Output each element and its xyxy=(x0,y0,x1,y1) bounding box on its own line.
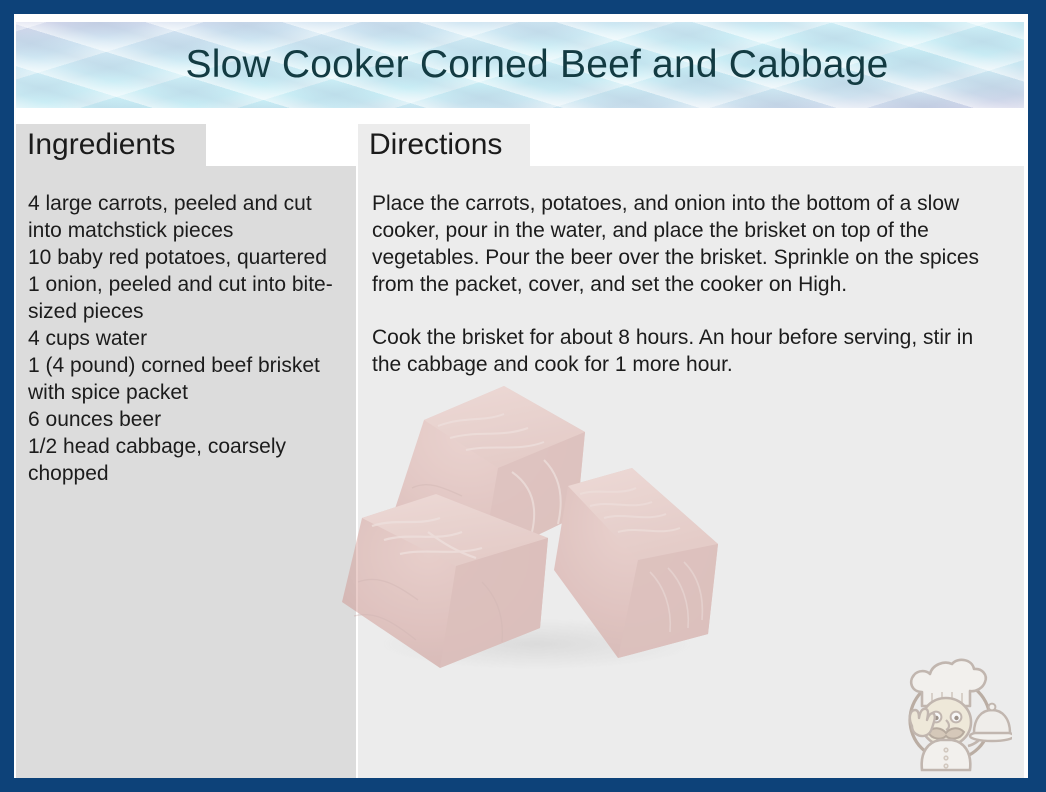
ingredient-item: 4 cups water xyxy=(28,325,340,352)
chef-logo xyxy=(888,648,1012,772)
ingredients-section-tab: Ingredients xyxy=(16,124,206,166)
ingredient-item: 10 baby red potatoes, quartered xyxy=(28,244,340,271)
directions-body: Place the carrots, potatoes, and onion i… xyxy=(372,190,1006,378)
recipe-slide: Slow Cooker Corned Beef and Cabbage Ingr… xyxy=(0,0,1046,792)
ingredients-list: 4 large carrots, peeled and cut into mat… xyxy=(28,190,340,487)
directions-section-tab: Directions xyxy=(358,124,530,166)
raw-beef-cubes-photo xyxy=(332,376,746,676)
page-title: Slow Cooker Corned Beef and Cabbage xyxy=(152,43,889,87)
ingredient-item: 1 (4 pound) corned beef brisket with spi… xyxy=(28,352,340,406)
direction-paragraph: Cook the brisket for about 8 hours. An h… xyxy=(372,324,1006,378)
ingredients-heading: Ingredients xyxy=(27,128,175,162)
ingredient-item: 4 large carrots, peeled and cut into mat… xyxy=(28,190,340,244)
slide-canvas: Slow Cooker Corned Beef and Cabbage Ingr… xyxy=(14,14,1028,778)
direction-paragraph: Place the carrots, potatoes, and onion i… xyxy=(372,190,1006,298)
title-banner: Slow Cooker Corned Beef and Cabbage xyxy=(16,22,1024,108)
ingredient-item: 1/2 head cabbage, coarsely chopped xyxy=(28,433,340,487)
ingredient-item: 1 onion, peeled and cut into bite-sized … xyxy=(28,271,340,325)
ingredient-item: 6 ounces beer xyxy=(28,406,340,433)
ingredients-panel: 4 large carrots, peeled and cut into mat… xyxy=(16,166,356,778)
directions-heading: Directions xyxy=(369,128,502,162)
